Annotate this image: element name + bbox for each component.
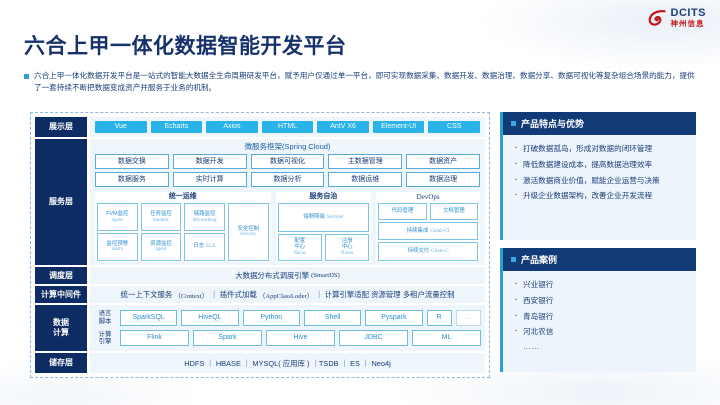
list-item: 青岛银行 xyxy=(515,311,686,323)
platform-capability-row: 统一运维 FVM监控 agent 监控预警 alarm xyxy=(95,192,480,262)
display-layer-body: Vue Echarts Axios HTML AntV X6 Element-U… xyxy=(90,117,485,137)
layer-compute: 数据 计算 语言 脚本 计算 引擎 SparkSQL HiveQL Pytho xyxy=(35,305,485,351)
cases-list: 兴业银行 西安银行 青岛银行 河北农信 xyxy=(515,279,686,338)
intro-paragraph: 六合上甲一体化数据开发平台是一站式的智能大数据全生命周期研发平台，赋予用户仅通过… xyxy=(24,70,696,94)
ops-resource-monitor-cn: 资源监控 xyxy=(150,241,172,248)
chip-more[interactable]: ... xyxy=(456,310,481,326)
middleware-sep-1: ｜ xyxy=(210,289,217,300)
chip-hive[interactable]: Hive xyxy=(266,330,335,346)
devops-ci-en: Gitlab-CI xyxy=(430,229,449,235)
layer-middleware: 计算中间件 统一上下文服务 （Context） ｜ 插件式加载 （AppClas… xyxy=(35,286,485,303)
module-master-data-management[interactable]: 主数据管理 xyxy=(328,154,402,169)
layer-label-compute-line2: 计算 xyxy=(53,328,69,337)
layer-label-middleware: 计算中间件 xyxy=(35,286,87,303)
chip-python[interactable]: Python xyxy=(243,310,300,326)
autonomy-config-center[interactable]: 配置 中心 Nacos xyxy=(278,234,322,261)
devops-cells: 代码管理 文档管理 持续集成 Gitlab-CI xyxy=(378,203,478,261)
ops-resource-monitor[interactable]: 资源监控 agent xyxy=(141,233,182,261)
intro-text: 六合上甲一体化数据开发平台是一站式的智能大数据全生命周期研发平台，赋予用户仅通过… xyxy=(34,70,696,94)
ops-security-cn: 安全控制 xyxy=(237,226,259,233)
middleware-plugin-en: （AppClassLoder） xyxy=(259,290,314,300)
advantages-list: 打破数据孤岛，形成对数据的闭环管理 降低数据建设成本，提高数据治理效率 激活数据… xyxy=(515,143,686,202)
chip-pyspark[interactable]: Pyspark xyxy=(365,310,422,326)
unified-ops-group: 统一运维 FVM监控 agent 监控预警 alarm xyxy=(95,192,271,262)
layer-schedule: 调度层 大数据分布式调度引擎 (SmartDS) xyxy=(35,267,485,284)
panel-cases-title: 产品案例 xyxy=(521,253,557,266)
ops-log-cn: 日志 xyxy=(193,243,204,250)
schedule-layer-body: 大数据分布式调度引擎 (SmartDS) xyxy=(90,267,485,284)
tag-axios[interactable]: Axios xyxy=(206,121,258,133)
layer-label-schedule: 调度层 xyxy=(35,267,87,284)
devops-group: DevOps 代码管理 文档管理 持续集成 xyxy=(376,192,480,262)
module-data-development[interactable]: 数据开发 xyxy=(173,154,247,169)
panel-advantages-title: 产品特点与优势 xyxy=(521,117,584,130)
ops-column-2: 任务监控 monitor 资源监控 agent xyxy=(141,203,182,261)
middleware-layer-body: 统一上下文服务 （Context） ｜ 插件式加载 （AppClassLoder… xyxy=(90,286,485,303)
ops-fvm-monitor-en: agent xyxy=(112,218,123,224)
unified-ops-title: 统一运维 xyxy=(97,193,269,201)
ops-column-1: FVM监控 agent 监控预警 alarm xyxy=(97,203,138,261)
autonomy-registry-center[interactable]: 注册 中心 Nacos xyxy=(325,234,369,261)
service-autonomy-title: 服务自治 xyxy=(278,193,370,201)
module-data-exchange[interactable]: 数据交换 xyxy=(95,154,169,169)
devops-continuous-delivery[interactable]: 持续交付 Gitlab-C xyxy=(378,242,478,261)
ops-task-monitor-en: monitor xyxy=(153,218,169,224)
cases-more-ellipsis: …… xyxy=(515,342,686,351)
tag-element-ui[interactable]: Element-UI xyxy=(373,121,425,133)
chip-shell[interactable]: Shell xyxy=(304,310,361,326)
middleware-context-cn: 统一上下文服务 xyxy=(121,289,173,300)
layer-display: 展示层 Vue Echarts Axios HTML AntV X6 Eleme… xyxy=(35,117,485,137)
tag-vue[interactable]: Vue xyxy=(95,121,147,133)
ops-alarm[interactable]: 监控预警 alarm xyxy=(97,233,138,261)
ops-trace-monitor-en: Skywalking xyxy=(193,218,217,224)
chip-sparksql[interactable]: SparkSQL xyxy=(120,310,177,326)
brand-name: DCITS xyxy=(671,8,707,19)
panel-advantages: 产品特点与优势 打破数据孤岛，形成对数据的闭环管理 降低数据建设成本，提高数据治… xyxy=(500,112,696,240)
middleware-context-en: （Context） xyxy=(174,290,208,300)
ops-alarm-cn: 监控预警 xyxy=(107,241,129,248)
ops-fvm-monitor-cn: FVM监控 xyxy=(106,211,128,218)
autonomy-center-row: 配置 中心 Nacos 注册 中心 Nacos xyxy=(278,234,370,261)
ops-task-monitor[interactable]: 任务监控 monitor xyxy=(141,203,182,231)
devops-cd-cn: 持续交付 xyxy=(408,248,430,255)
schedule-engine-en: (SmartDS) xyxy=(311,272,340,279)
list-item: 西安银行 xyxy=(515,295,686,307)
middleware-plugin-cn: 插件式加载 xyxy=(220,289,257,300)
ops-resource-monitor-en: agent xyxy=(156,247,167,253)
tag-antv-x6[interactable]: AntV X6 xyxy=(317,121,369,133)
square-bullet-icon xyxy=(511,121,516,126)
module-data-ops[interactable]: 数据运维 xyxy=(328,172,402,187)
panel-cases-header: 产品案例 xyxy=(503,248,696,271)
module-data-service[interactable]: 数据服务 xyxy=(95,172,169,187)
ops-trace-monitor-cn: 链路监控 xyxy=(194,211,216,218)
module-data-visualization[interactable]: 数据可视化 xyxy=(251,154,325,169)
architecture-diagram: 展示层 Vue Echarts Axios HTML AntV X6 Eleme… xyxy=(30,112,490,378)
chip-flink[interactable]: Flink xyxy=(120,330,189,346)
ops-log-en: ELK xyxy=(206,244,216,250)
ops-log[interactable]: 日志 ELK xyxy=(184,233,225,261)
compute-chip-grid: SparkSQL HiveQL Python Shell Pyspark R .… xyxy=(120,310,481,346)
autonomy-config-cn2: 中心 xyxy=(294,244,305,251)
ops-alarm-en: alarm xyxy=(112,247,123,253)
storage-layer-body: HDFS ｜ HBASE ｜ MYSQL( 应用库 ) ｜TSDB ｜ ES ｜… xyxy=(90,353,485,373)
module-data-governance[interactable]: 数据治理 xyxy=(406,172,480,187)
service-autonomy-cells: 熔断降级 Sentinel 配置 中心 Nacos 注册 xyxy=(278,203,370,261)
layer-label-compute-line1: 数据 xyxy=(53,318,69,327)
autonomy-registry-cn2: 中心 xyxy=(342,244,353,251)
autonomy-config-en: Nacos xyxy=(293,251,306,257)
square-bullet-icon xyxy=(511,257,516,262)
schedule-engine-cn: 大数据分布式调度引擎 xyxy=(235,270,309,281)
dcits-swirl-icon xyxy=(647,8,667,28)
list-item: 降低数据建设成本，提高数据治理效率 xyxy=(515,159,686,171)
module-data-assets[interactable]: 数据资产 xyxy=(406,154,480,169)
autonomy-registry-en: Nacos xyxy=(341,251,354,257)
ops-security-control[interactable]: 安全控制 Security xyxy=(228,203,269,261)
ops-fvm-monitor[interactable]: FVM监控 agent xyxy=(97,203,138,231)
devops-title: DevOps xyxy=(378,193,478,201)
tag-css[interactable]: CSS xyxy=(428,121,480,133)
storage-text: HDFS ｜ HBASE ｜ MYSQL( 应用库 ) ｜TSDB ｜ ES ｜… xyxy=(184,358,391,369)
autonomy-circuit-breaker[interactable]: 熔断降级 Sentinel xyxy=(278,203,370,232)
layer-label-service: 服务层 xyxy=(35,139,87,265)
ops-task-monitor-cn: 任务监控 xyxy=(150,211,172,218)
brand-logo: DCITS 神州信息 xyxy=(647,8,707,28)
ops-trace-monitor[interactable]: 链路监控 Skywalking xyxy=(184,203,225,231)
ops-column-4: 安全控制 Security xyxy=(228,203,269,261)
compute-layer-body: 语言 脚本 计算 引擎 SparkSQL HiveQL Python Shell… xyxy=(90,305,485,351)
display-tag-bar: Vue Echarts Axios HTML AntV X6 Element-U… xyxy=(90,117,485,137)
middleware-rest: 计算引擎适配 资源管理 多租户流量控制 xyxy=(325,289,455,300)
devops-doc-label: 文档管理 xyxy=(443,208,465,215)
page-title: 六合上甲一体化数据智能开发平台 xyxy=(24,30,347,60)
list-item: 升级企业数据架构，改善企业开发流程 xyxy=(515,190,686,202)
layer-service: 服务层 微服务框架(Spring Cloud) 数据交换 数据开发 数据可视化 … xyxy=(35,139,485,265)
chip-ml[interactable]: ML xyxy=(412,330,481,346)
devops-code-label: 代码管理 xyxy=(392,208,414,215)
tag-html[interactable]: HTML xyxy=(262,121,314,133)
compute-side-script-l1: 语言 xyxy=(99,310,112,317)
service-autonomy-group: 服务自治 熔断降级 Sentinel 配置 中心 xyxy=(276,192,372,262)
list-item: 激活数据商业价值，赋能企业运营与决策 xyxy=(515,175,686,187)
compute-side-script: 语言 脚本 xyxy=(94,310,116,325)
chip-spark[interactable]: Spark xyxy=(193,330,262,346)
panel-advantages-header: 产品特点与优势 xyxy=(503,112,696,135)
compute-side-engine-l1: 计算 xyxy=(99,331,112,338)
compute-engine-row: Flink Spark Hive JDBC ML xyxy=(120,330,481,346)
layer-label-storage: 储存层 xyxy=(35,353,87,373)
devops-doc-management[interactable]: 文档管理 xyxy=(430,203,478,220)
devops-row-1: 代码管理 文档管理 xyxy=(378,203,478,220)
list-item: 河北农信 xyxy=(515,326,686,338)
service-framework-label: 微服务框架(Spring Cloud) xyxy=(95,142,480,151)
ops-security-en: Security xyxy=(240,232,257,238)
devops-cd-en: Gitlab-C xyxy=(431,249,449,255)
autonomy-fuse-en: Sentinel xyxy=(327,215,343,221)
chip-hiveql[interactable]: HiveQL xyxy=(181,310,238,326)
compute-side-script-l2: 脚本 xyxy=(99,318,112,325)
devops-ci-cn: 持续集成 xyxy=(407,228,429,235)
module-realtime-compute[interactable]: 实时计算 xyxy=(173,172,247,187)
chip-r[interactable]: R xyxy=(427,310,452,326)
layer-label-display: 展示层 xyxy=(35,117,87,137)
panel-cases-body: 兴业银行 西安银行 青岛银行 河北农信 …… xyxy=(503,271,696,359)
compute-script-row: SparkSQL HiveQL Python Shell Pyspark R .… xyxy=(120,310,481,326)
panel-cases: 产品案例 兴业银行 西安银行 青岛银行 河北农信 …… xyxy=(500,248,696,372)
devops-continuous-integration[interactable]: 持续集成 Gitlab-CI xyxy=(378,222,478,241)
panel-advantages-body: 打破数据孤岛，形成对数据的闭环管理 降低数据建设成本，提高数据治理效率 激活数据… xyxy=(503,135,696,214)
bullet-square-icon xyxy=(24,74,29,79)
brand-subname: 神州信息 xyxy=(671,20,707,28)
compute-side-labels: 语言 脚本 计算 引擎 xyxy=(94,310,116,345)
module-data-analysis[interactable]: 数据分析 xyxy=(251,172,325,187)
list-item: 打破数据孤岛，形成对数据的闭环管理 xyxy=(515,143,686,155)
compute-side-engine-l2: 引擎 xyxy=(99,338,112,345)
middleware-sep-2: ｜ xyxy=(315,289,322,300)
service-row-1: 数据交换 数据开发 数据可视化 主数据管理 数据资产 xyxy=(95,154,480,169)
service-row-2: 数据服务 实时计算 数据分析 数据运维 数据治理 xyxy=(95,172,480,187)
devops-code-management[interactable]: 代码管理 xyxy=(378,203,426,220)
unified-ops-cells: FVM监控 agent 监控预警 alarm 任务监控 monito xyxy=(97,203,269,261)
ops-column-3: 链路监控 Skywalking 日志 ELK xyxy=(184,203,225,261)
autonomy-fuse-cn: 熔断降级 xyxy=(303,214,325,221)
tag-echarts[interactable]: Echarts xyxy=(151,121,203,133)
list-item: 兴业银行 xyxy=(515,279,686,291)
compute-side-engine: 计算 引擎 xyxy=(94,331,116,346)
layer-label-compute: 数据 计算 xyxy=(35,305,87,351)
layer-storage: 储存层 HDFS ｜ HBASE ｜ MYSQL( 应用库 ) ｜TSDB ｜ … xyxy=(35,353,485,373)
service-module-grid: 数据交换 数据开发 数据可视化 主数据管理 数据资产 数据服务 实时计算 数据分… xyxy=(95,154,480,187)
chip-jdbc[interactable]: JDBC xyxy=(339,330,408,346)
service-layer-body: 微服务框架(Spring Cloud) 数据交换 数据开发 数据可视化 主数据管… xyxy=(90,139,485,265)
